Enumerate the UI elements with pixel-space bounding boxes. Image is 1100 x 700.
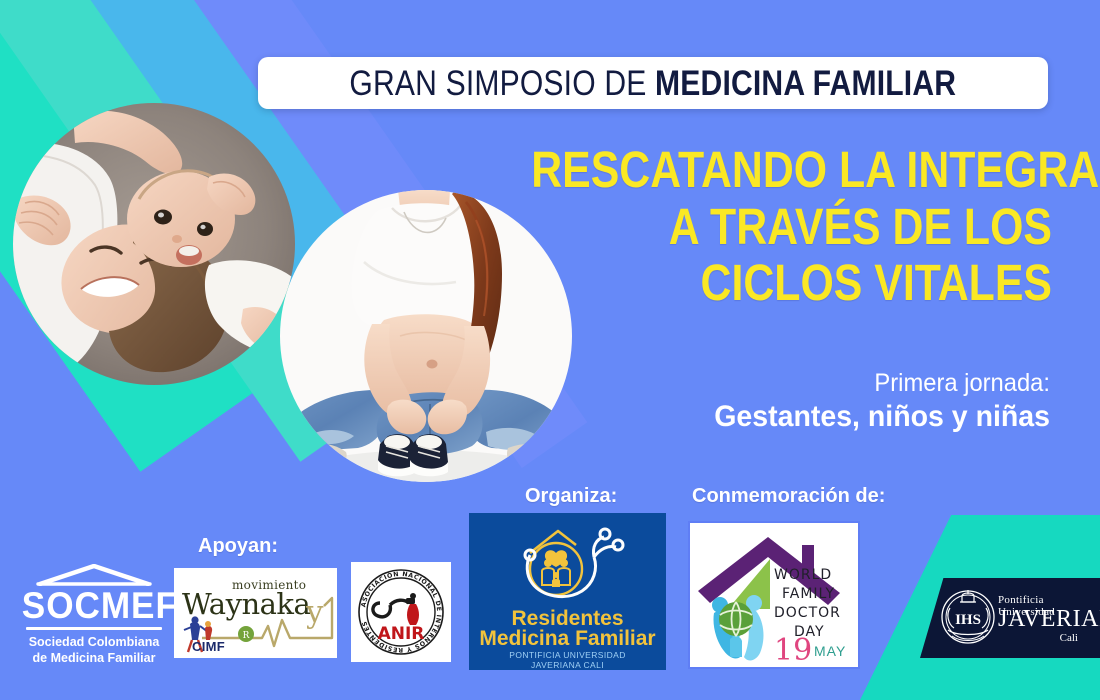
socmef-roof-icon (36, 564, 152, 586)
svg-text:R: R (243, 631, 250, 641)
residentes-line-2: Medicina Familiar (469, 627, 666, 651)
mother-and-baby-photo (13, 103, 295, 385)
wfdd-word-2: FAMILY (782, 586, 835, 602)
logo-pontificia-universidad-javeriana: IHS Pontificia Universidad JAVERIANA Cal… (920, 578, 1100, 658)
headline: RESCATANDO LA INTEGRALIDAD A TRAVÉS DE L… (432, 142, 1052, 312)
anir-seal-icon: ASOCIACIÓN NACIONAL DE INTERNOS Y RESIDE… (356, 567, 446, 657)
residentes-line-4: JAVERIANA CALI (469, 660, 666, 670)
waynakay-main-text: Waynaka (182, 587, 310, 621)
javeriana-line-3: Cali (1060, 632, 1078, 644)
javeriana-ihs-crest-icon: IHS (940, 586, 996, 648)
logo-waynakay: R movimiento Waynaka y CIMF (174, 568, 337, 658)
socmef-subtitle-line-2: de Medicina Familiar (18, 651, 170, 667)
socmef-subtitle-line-1: Sociedad Colombiana (18, 635, 170, 651)
logo-residentes-medicina-familiar: Residentes Medicina Familiar PONTIFICIA … (469, 513, 666, 670)
javeriana-crest-text: IHS (955, 612, 981, 628)
wfdd-month: MAY (814, 643, 846, 659)
wfdd-word-3: DOCTOR (774, 605, 841, 621)
label-conmemoracion: Conmemoración de: (692, 485, 885, 508)
title-banner: GRAN SIMPOSIO DE MEDICINA FAMILIAR (258, 57, 1048, 109)
label-apoyan: Apoyan: (198, 535, 278, 558)
subtitle: Primera jornada: Gestantes, niños y niña… (490, 368, 1050, 436)
waynakay-cimf-text: CIMF (192, 639, 225, 654)
subtitle-line-2: Gestantes, niños y niñas (518, 398, 1050, 436)
title-bold-text: MEDICINA FAMILIAR (655, 64, 956, 103)
logo-anir: ASOCIACIÓN NACIONAL DE INTERNOS Y RESIDE… (351, 562, 451, 662)
wfdd-day-number: 19 (774, 633, 812, 668)
logo-world-family-doctor-day: WORLD FAMILY DOCTOR DAY 19 MAY (688, 521, 860, 669)
residentes-family-house-stethoscope-icon (508, 519, 628, 607)
residentes-line-3: PONTIFICIA UNIVERSIDAD (469, 650, 666, 660)
javeriana-line-2: JAVERIANA (998, 606, 1100, 633)
title-light-text: GRAN SIMPOSIO DE (350, 64, 656, 103)
headline-line-1: RESCATANDO LA INTEGRALIDAD (531, 142, 1052, 199)
logo-socmef: SOCMEF Sociedad Colombiana de Medicina F… (18, 564, 170, 679)
svg-text:ANIR: ANIR (378, 624, 425, 644)
socmef-acronym: SOCMEF (22, 587, 166, 624)
subtitle-line-1: Primera jornada: (518, 368, 1050, 398)
waynakay-tail-letter: y (306, 594, 324, 630)
headline-line-3: CICLOS VITALES (531, 255, 1052, 312)
poster-canvas: GRAN SIMPOSIO DE MEDICINA FAMILIAR RESCA… (0, 0, 1100, 700)
wfdd-word-1: WORLD (774, 567, 832, 583)
socmef-divider (26, 627, 162, 630)
label-organiza: Organiza: (525, 485, 617, 508)
headline-line-2: A TRAVÉS DE LOS (531, 199, 1052, 256)
